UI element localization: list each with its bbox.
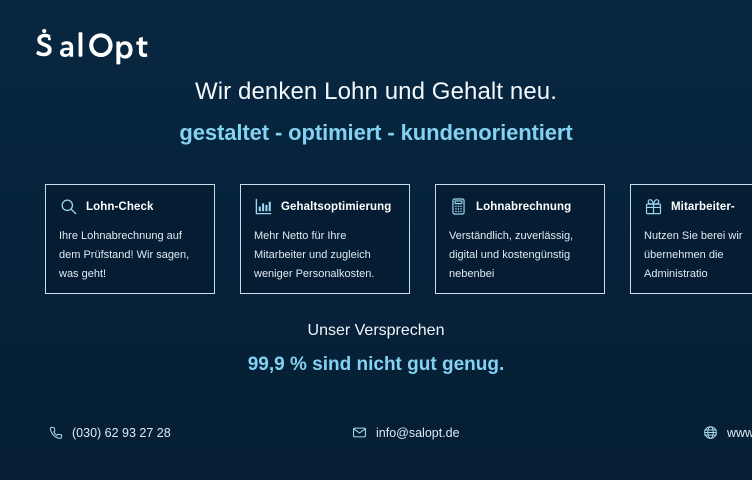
hero-subheadline: gestaltet - optimiert - kundenorientiert — [0, 120, 752, 146]
card-body: Nutzen Sie berei wir übernehmen die Admi… — [644, 227, 752, 284]
envelope-icon — [352, 425, 367, 440]
card-lohnabrechnung[interactable]: Lohnabrechnung Verständlich, zuverlässig… — [435, 184, 605, 294]
footer-website-text: www — [727, 426, 752, 440]
gift-icon — [644, 197, 663, 216]
card-body: Mehr Netto für Ihre Mitarbeiter und zugl… — [254, 227, 396, 284]
promise-label: Unser Versprechen — [0, 322, 752, 340]
card-header: Gehaltsoptimierung — [254, 197, 396, 216]
card-title: Lohnabrechnung — [476, 201, 571, 213]
footer-email[interactable]: info@salopt.de — [352, 425, 460, 440]
bar-chart-icon — [254, 197, 273, 216]
card-body: Verständlich, zuverlässig, digital und k… — [449, 227, 591, 284]
landing-page: Wir denken Lohn und Gehalt neu. gestalte… — [0, 0, 752, 480]
footer-phone[interactable]: (030) 62 93 27 28 — [48, 425, 171, 440]
card-header: Lohnabrechnung — [449, 197, 591, 216]
card-title: Mitarbeiter- — [671, 201, 735, 213]
footer-contact-bar: (030) 62 93 27 28 info@salopt.de — [0, 425, 752, 455]
hero-headline: Wir denken Lohn und Gehalt neu. — [0, 78, 752, 106]
card-title: Lohn-Check — [86, 201, 153, 213]
service-cards: Lohn-Check Ihre Lohnabrechnung auf dem P… — [45, 184, 752, 294]
card-header: Mitarbeiter- — [644, 197, 752, 216]
salopt-logo-icon — [30, 28, 150, 70]
card-mitarbeiter-benefits[interactable]: Mitarbeiter- Nutzen Sie berei wir überne… — [630, 184, 752, 294]
logo[interactable] — [30, 27, 150, 71]
footer-phone-text: (030) 62 93 27 28 — [72, 426, 171, 440]
card-header: Lohn-Check — [59, 197, 201, 216]
globe-icon — [703, 425, 718, 440]
phone-icon — [48, 425, 63, 440]
magnifier-icon — [59, 197, 78, 216]
calculator-icon — [449, 197, 468, 216]
promise-value: 99,9 % sind nicht gut genug. — [0, 354, 752, 376]
card-lohn-check[interactable]: Lohn-Check Ihre Lohnabrechnung auf dem P… — [45, 184, 215, 294]
card-body: Ihre Lohnabrechnung auf dem Prüfstand! W… — [59, 227, 201, 284]
footer-email-text: info@salopt.de — [376, 426, 460, 440]
card-title: Gehaltsoptimierung — [281, 201, 391, 213]
card-gehaltsoptimierung[interactable]: Gehaltsoptimierung Mehr Netto für Ihre M… — [240, 184, 410, 294]
footer-website[interactable]: www — [703, 425, 752, 440]
